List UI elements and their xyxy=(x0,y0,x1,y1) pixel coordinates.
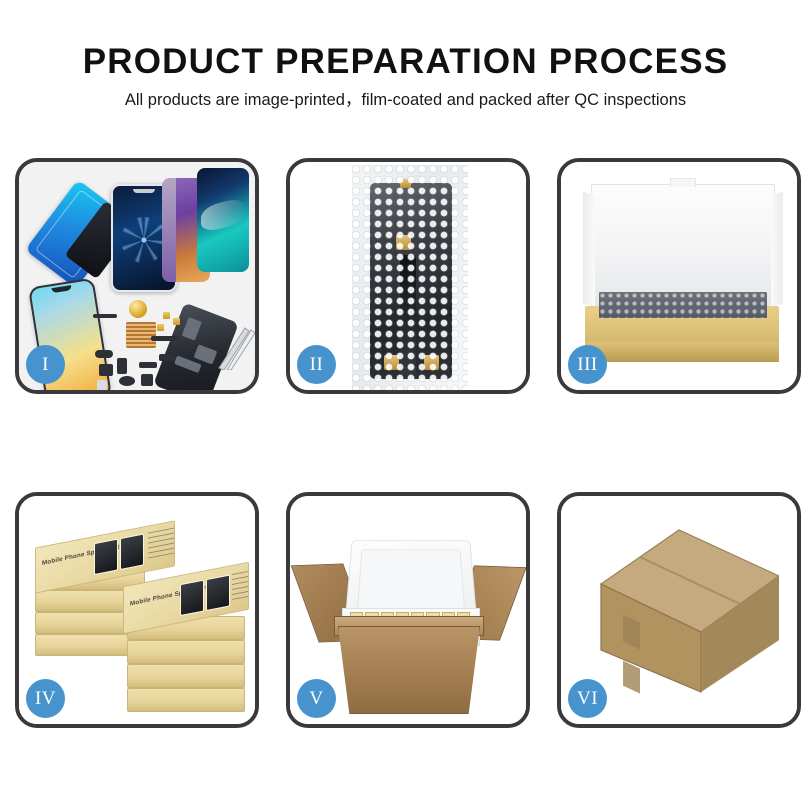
part-chip xyxy=(159,354,175,361)
stacked-box xyxy=(127,664,245,688)
gold-connector xyxy=(400,179,411,188)
box-tray xyxy=(585,306,779,362)
step-badge-6: VI xyxy=(568,679,607,718)
small-parts-cluster xyxy=(93,310,183,390)
step-image-sealed-shipping-carton: VI xyxy=(561,496,797,724)
box-stack: Mobile Phone Spare Parts Mobile Phone Sp… xyxy=(31,512,247,714)
sealed-carton xyxy=(583,524,779,696)
step-image-bubble-wrapped-screen: II xyxy=(290,162,526,390)
part-button xyxy=(95,350,113,358)
step-panel-3[interactable]: III xyxy=(557,158,801,394)
gold-connector xyxy=(424,355,439,370)
housing-component xyxy=(182,317,202,341)
step-panel-1[interactable]: I xyxy=(15,158,259,394)
stacked-box xyxy=(127,640,245,664)
step-badge-1: I xyxy=(26,345,65,384)
flex-cable xyxy=(400,255,416,375)
teal-gradient-phone xyxy=(197,168,249,272)
gold-connector xyxy=(384,355,399,370)
lid-tab xyxy=(670,178,696,187)
step-image-carton-with-foam: V xyxy=(290,496,526,724)
gold-contact xyxy=(173,318,180,325)
part-connector xyxy=(117,358,127,374)
gold-speaker-part xyxy=(129,300,147,318)
step-panel-4[interactable]: Mobile Phone Spare Parts Mobile Phone Sp… xyxy=(15,492,259,728)
product-photo xyxy=(206,574,230,611)
spec-text-lines xyxy=(232,566,249,601)
step-badge-5: V xyxy=(297,679,336,718)
shipping-carton-open xyxy=(308,516,508,712)
carton-body xyxy=(338,626,480,714)
gold-contact xyxy=(163,312,170,319)
part-ribbon xyxy=(139,362,157,368)
step-panel-5[interactable]: V xyxy=(286,492,530,728)
open-inner-box xyxy=(581,184,781,374)
part-speaker xyxy=(119,376,135,386)
step-panel-2[interactable]: II xyxy=(286,158,530,394)
housing-component xyxy=(194,344,218,364)
part-flex-strip xyxy=(93,314,117,318)
crack-pattern-icon xyxy=(121,217,167,263)
page-subtitle: All products are image-printed，film-coat… xyxy=(0,92,811,109)
product-photo xyxy=(94,538,118,575)
step-badge-2: II xyxy=(297,345,336,384)
spec-text-lines xyxy=(148,524,175,559)
lcd-screen-assembly xyxy=(370,183,452,379)
step-image-open-inner-box: III xyxy=(561,162,797,390)
screen-highlight xyxy=(201,197,245,234)
stacked-box xyxy=(127,688,245,712)
product-photo xyxy=(180,580,204,617)
step-panel-6[interactable]: VI xyxy=(557,492,801,728)
step-image-stacked-retail-boxes: Mobile Phone Spare Parts Mobile Phone Sp… xyxy=(19,496,255,724)
product-photo xyxy=(120,533,144,570)
part-white-module xyxy=(97,380,107,390)
page-header: PRODUCT PREPARATION PROCESS All products… xyxy=(0,0,811,109)
page-title: PRODUCT PREPARATION PROCESS xyxy=(0,44,811,79)
part-camera xyxy=(99,364,113,376)
step-badge-4: IV xyxy=(26,679,65,718)
copper-mesh-chip xyxy=(126,322,156,348)
tweezers-icon xyxy=(215,322,255,370)
step-badge-3: III xyxy=(568,345,607,384)
process-steps-grid: I II xyxy=(15,158,801,728)
part-ic xyxy=(141,374,153,386)
phone-notch xyxy=(51,285,72,293)
part-flex-strip xyxy=(151,336,177,341)
step-image-phone-parts-collage: I xyxy=(19,162,255,390)
phone-notch xyxy=(133,189,155,193)
gold-contact xyxy=(157,324,164,331)
bubble-wrapped-contents xyxy=(599,292,767,318)
tray-front-panel xyxy=(585,342,779,362)
bubble-wrap-bag xyxy=(352,165,468,390)
gold-connector xyxy=(396,235,411,250)
